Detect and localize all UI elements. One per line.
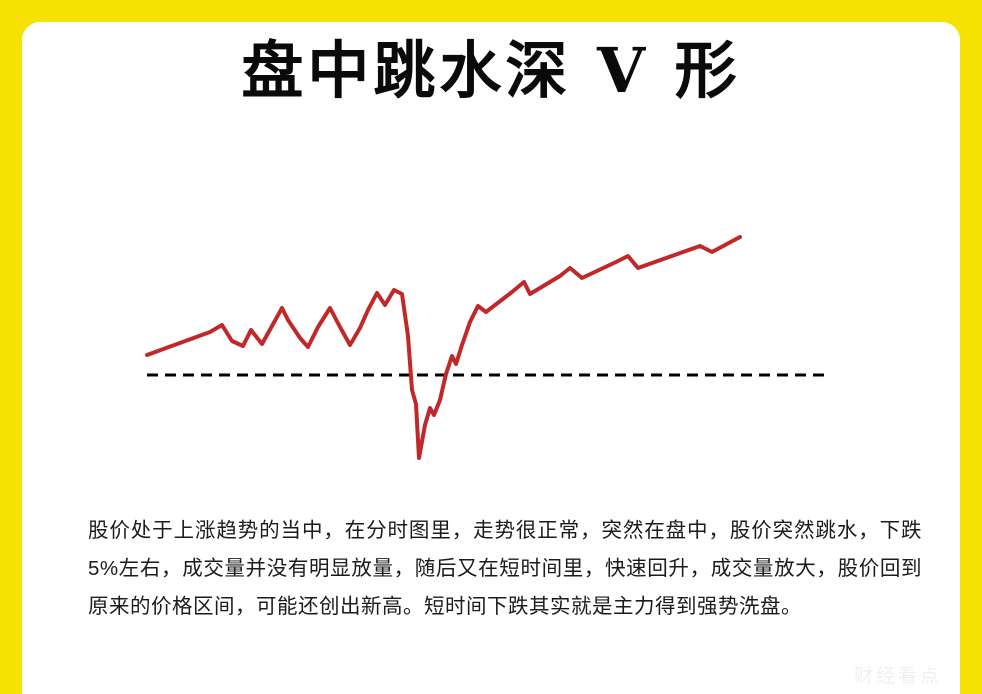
page-title: 盘中跳水深 V 形 xyxy=(22,40,960,102)
price-line xyxy=(147,237,740,458)
poster-canvas: 盘中跳水深 V 形 股价处于上涨趋势的当中，在分时图里，走势很正常，突然在盘中，… xyxy=(0,0,982,694)
content-card: 盘中跳水深 V 形 股价处于上涨趋势的当中，在分时图里，走势很正常，突然在盘中，… xyxy=(22,22,960,694)
description-paragraph: 股价处于上涨趋势的当中，在分时图里，走势很正常，突然在盘中，股价突然跳水，下跌5… xyxy=(88,512,922,626)
intraday-chart xyxy=(22,202,960,502)
chart-canvas xyxy=(22,202,960,502)
watermark-label: 财经看点 xyxy=(854,661,942,688)
